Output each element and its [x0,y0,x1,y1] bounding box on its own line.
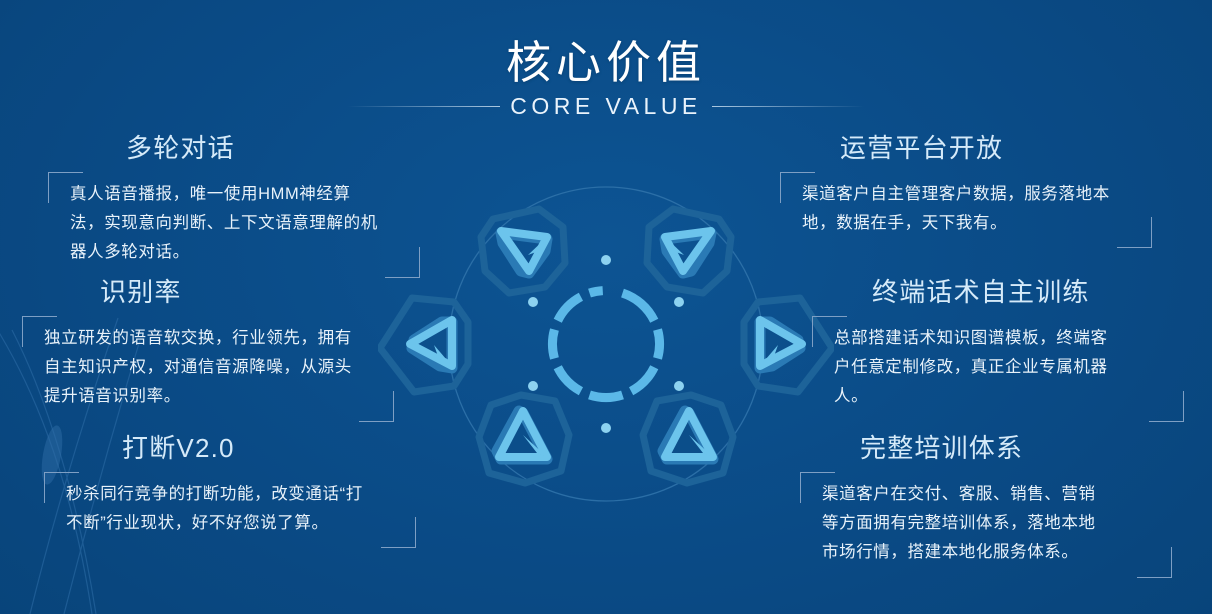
feature-body: 渠道客户在交付、客服、销售、营销 等方面拥有完整培训体系，落地本地 市场行情，搭… [822,480,1146,568]
feature-recognition-rate: 识别率 独立研发的语音软交换，行业领先，拥有 自主知识产权，对通信音源降噪，从源… [22,278,394,422]
feature-heading: 运营平台开放 [780,134,1152,163]
page-title-en: CORE VALUE [500,93,712,120]
feature-terminal-script-training: 终端话术自主训练 总部搭建话术知识图谱模板，终端客 户任意定制修改，真正企业专属… [812,278,1184,422]
badge-outline [647,209,731,293]
feature-body: 真人语音播报，唯一使用HMM神经算 法，实现意向判断、上下文语意理解的机 器人多… [70,180,394,268]
feature-body-box: 秒杀同行竞争的打断功能，改变通话“打 不断”行业现状，好不好您说了算。 [44,472,416,549]
feature-heading: 多轮对话 [48,134,420,163]
badge-bottom-left [479,395,569,483]
badge-bottom-right [643,395,733,483]
feature-platform-openness: 运营平台开放 渠道客户自主管理客户数据，服务落地本 地，数据在手，天下我有。 [780,134,1152,248]
feature-heading: 打断V2.0 [44,434,416,463]
feature-body-box: 渠道客户在交付、客服、销售、营销 等方面拥有完整培训体系，落地本地 市场行情，搭… [800,472,1172,578]
feature-body-box: 总部搭建话术知识图谱模板，终端客 户任意定制修改，真正企业专属机器 人。 [812,316,1184,422]
badge-top-left [481,209,565,293]
triangle-right-arrow-icon [760,320,802,368]
triangle-left-arrow-icon [410,320,452,368]
badge-outline [481,209,565,293]
core-value-infographic: 核心价值 CORE VALUE [0,0,1212,614]
triangle-up-arrow-icon [663,411,713,459]
feature-multi-round-dialogue: 多轮对话 真人语音播报，唯一使用HMM神经算 法，实现意向判断、上下文语意理解的… [48,134,420,278]
feature-body-box: 独立研发的语音软交换，行业领先，拥有 自主知识产权，对通信音源降噪，从源头 提升… [22,316,394,422]
feature-body: 总部搭建话术知识图谱模板，终端客 户任意定制修改，真正企业专属机器 人。 [834,324,1158,412]
page-subtitle-row: CORE VALUE [0,93,1212,120]
triangle-down-left-arrow-icon [501,231,547,273]
page-title-block: 核心价值 CORE VALUE [0,36,1212,120]
title-rule-left [348,106,500,107]
triangle-up-arrow-icon [497,411,547,459]
page-title-cn: 核心价值 [0,36,1212,89]
feature-heading: 完整培训体系 [800,434,1172,463]
feature-body: 渠道客户自主管理客户数据，服务落地本 地，数据在手，天下我有。 [802,180,1126,239]
feature-heading: 识别率 [22,278,394,307]
feature-heading: 终端话术自主训练 [812,278,1184,307]
title-rule-right [712,106,864,107]
feature-body: 秒杀同行竞争的打断功能，改变通话“打 不断”行业现状，好不好您说了算。 [66,480,390,539]
badge-top-right [647,209,731,293]
feature-body: 独立研发的语音软交换，行业领先，拥有 自主知识产权，对通信音源降噪，从源头 提升… [44,324,368,412]
dashed-inner-ring [548,286,664,402]
feature-body-box: 渠道客户自主管理客户数据，服务落地本 地，数据在手，天下我有。 [780,172,1152,249]
triangle-down-right-arrow-icon [665,231,711,273]
feature-complete-training-system: 完整培训体系 渠道客户在交付、客服、销售、营销 等方面拥有完整培训体系，落地本地… [800,434,1172,578]
feature-body-box: 真人语音播报，唯一使用HMM神经算 法，实现意向判断、上下文语意理解的机 器人多… [48,172,420,278]
feature-interrupt-v2: 打断V2.0 秒杀同行竞争的打断功能，改变通话“打 不断”行业现状，好不好您说了… [44,434,416,548]
center-graphic [378,148,834,538]
